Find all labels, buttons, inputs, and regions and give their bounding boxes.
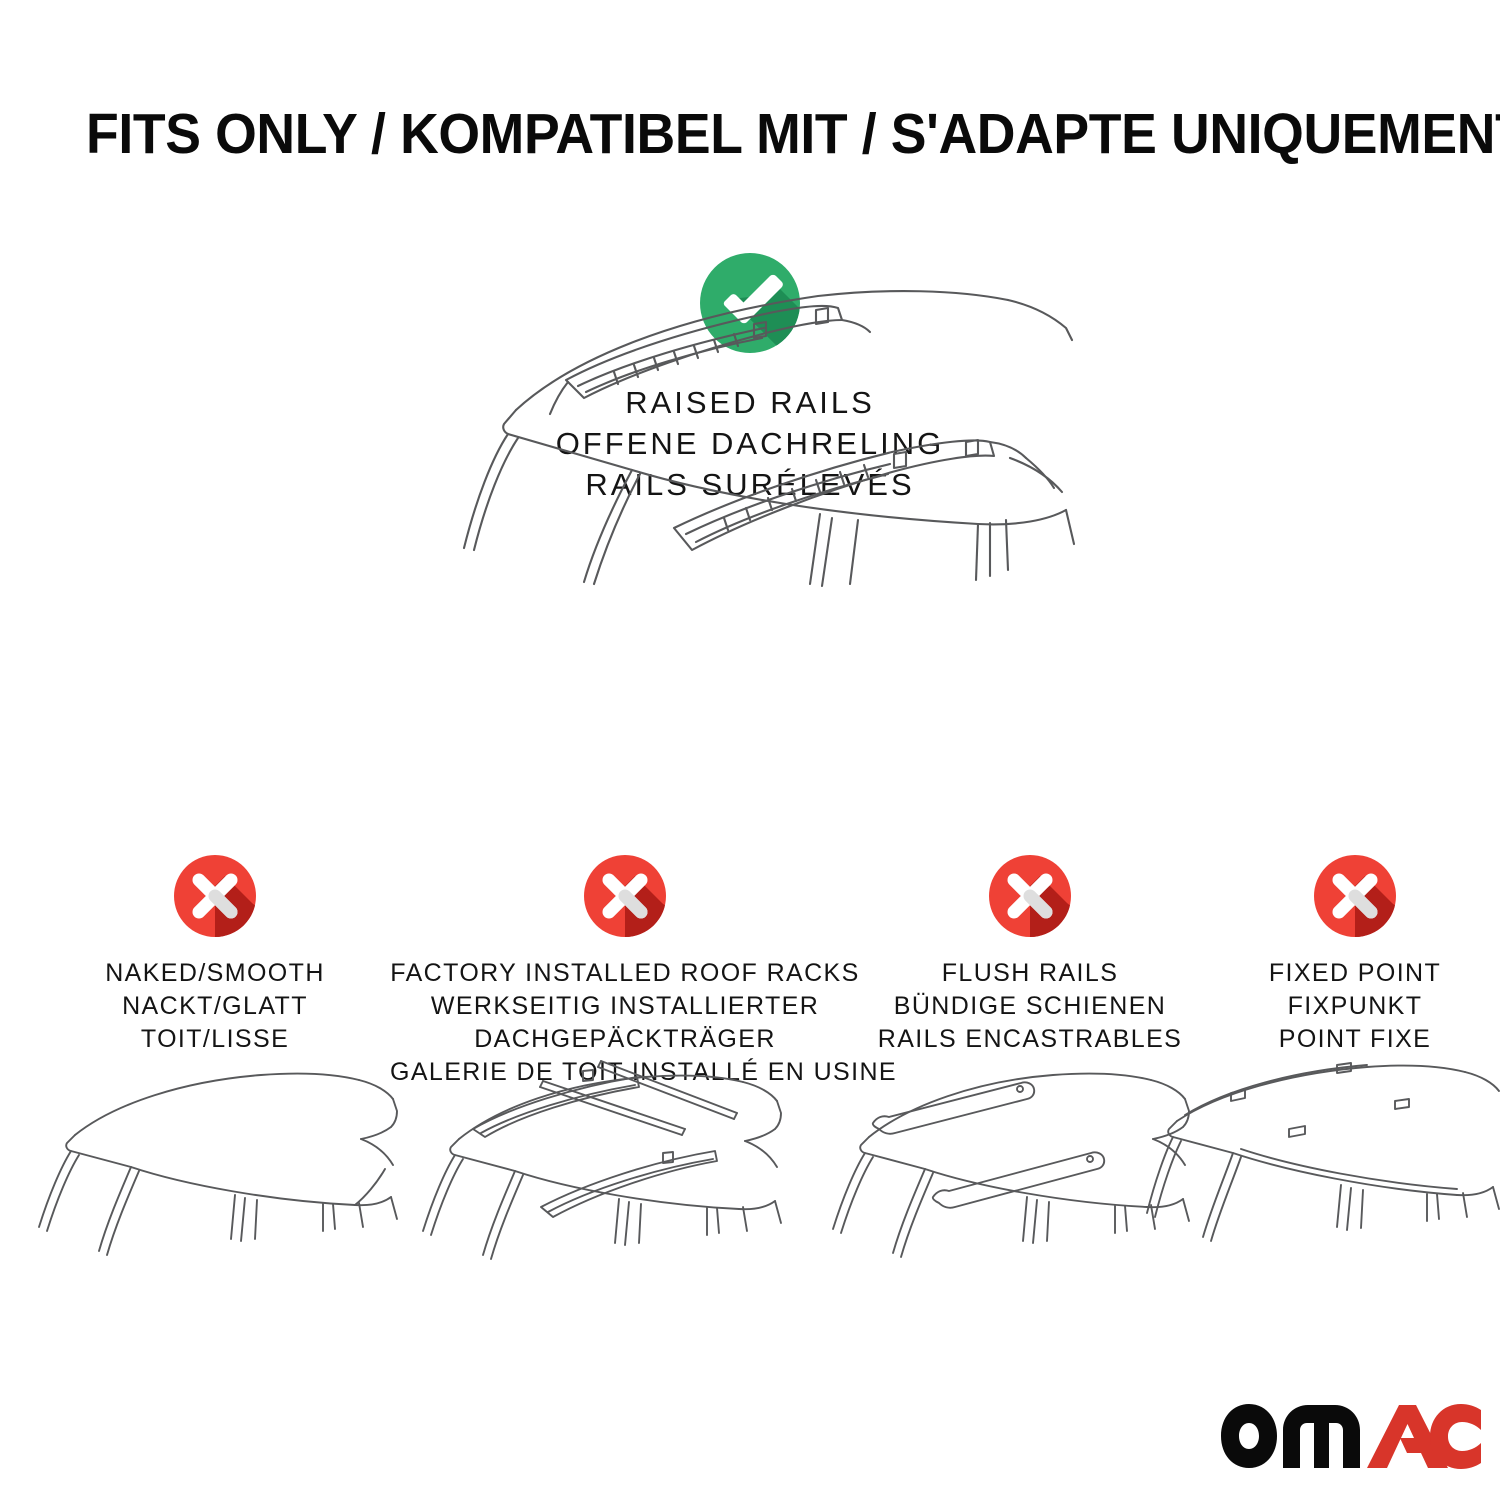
label-fr: RAILS ENCASTRABLES: [865, 1023, 1195, 1056]
label-en: NAKED/SMOOTH: [45, 957, 385, 990]
fixed-point-labels: FIXED POINT FIXPUNKT POINT FIXE: [1215, 957, 1495, 1056]
label-de-1: WERKSEITIG INSTALLIERTER: [390, 990, 860, 1023]
label-fr: TOIT/LISSE: [45, 1023, 385, 1056]
car-roof-with-raised-rails-illustration: [418, 262, 1086, 592]
label-de: NACKT/GLATT: [45, 990, 385, 1023]
label-en: FACTORY INSTALLED ROOF RACKS: [390, 957, 860, 990]
incompatible-column-fixed-point: FIXED POINT FIXPUNKT POINT FIXE: [1215, 852, 1495, 1056]
label-de: FIXPUNKT: [1215, 990, 1495, 1023]
label-fr: POINT FIXE: [1215, 1023, 1495, 1056]
flush-rails-labels: FLUSH RAILS BÜNDIGE SCHIENEN RAILS ENCAS…: [865, 957, 1195, 1056]
label-de-2: DACHGEPÄCKTRÄGER: [390, 1023, 860, 1056]
car-roof-with-fixed-points-illustration: [1145, 1055, 1500, 1290]
x-circle-icon: [171, 852, 259, 940]
naked-smooth-labels: NAKED/SMOOTH NACKT/GLATT TOIT/LISSE: [45, 957, 385, 1056]
omac-logo: [1219, 1396, 1481, 1472]
incompatible-column-factory-roof-racks: FACTORY INSTALLED ROOF RACKS WERKSEITIG …: [390, 852, 860, 1089]
x-circle-icon: [986, 852, 1074, 940]
car-roof-naked-smooth-illustration: [35, 1055, 420, 1290]
fitment-infographic: FITS ONLY / KOMPATIBEL MIT / S'ADAPTE UN…: [0, 0, 1500, 1500]
x-circle-icon: [581, 852, 669, 940]
incompatible-column-naked-smooth: NAKED/SMOOTH NACKT/GLATT TOIT/LISSE: [45, 852, 385, 1056]
label-de: BÜNDIGE SCHIENEN: [865, 990, 1195, 1023]
incompatible-column-flush-rails: FLUSH RAILS BÜNDIGE SCHIENEN RAILS ENCAS…: [865, 852, 1195, 1056]
label-en: FLUSH RAILS: [865, 957, 1195, 990]
page-title: FITS ONLY / KOMPATIBEL MIT / S'ADAPTE UN…: [86, 104, 1346, 164]
car-roof-with-factory-crossbars-illustration: [415, 1055, 815, 1290]
x-circle-icon: [1311, 852, 1399, 940]
label-en: FIXED POINT: [1215, 957, 1495, 990]
